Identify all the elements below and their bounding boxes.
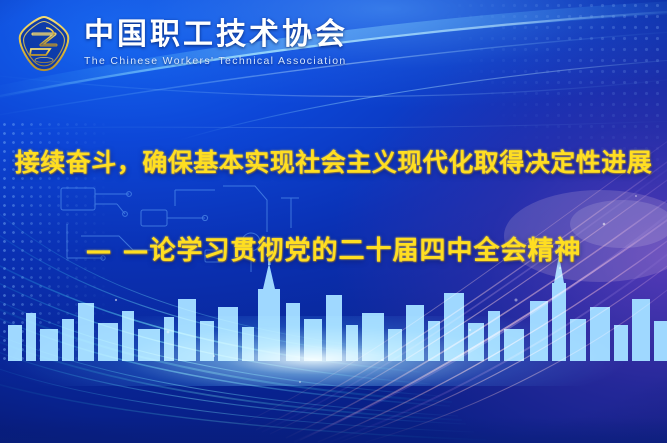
headline-main-text: 接续奋斗，确保基本实现社会主义现代化取得决定性进展 — [0, 143, 667, 179]
org-name-en: The Chinese Workers' Technical Associati… — [84, 55, 348, 67]
cwta-shield-emblem-icon — [16, 14, 72, 72]
header-bar: 中国职工技术协会 The Chinese Workers' Technical … — [0, 0, 667, 86]
circuit-board-pattern — [55, 180, 305, 285]
banner-root: 中国职工技术协会 The Chinese Workers' Technical … — [0, 0, 667, 443]
city-skyline-silhouette — [0, 233, 667, 443]
left-dot-columns — [0, 120, 120, 360]
org-name-cn: 中国职工技术协会 — [84, 19, 348, 51]
headline-sub-text: — —论学习贯彻党的二十届四中全会精神 — [0, 230, 667, 267]
horizon-glow — [0, 316, 667, 386]
bottom-edge-shade — [0, 417, 667, 443]
org-identity-block: 中国职工技术协会 The Chinese Workers' Technical … — [84, 19, 348, 67]
